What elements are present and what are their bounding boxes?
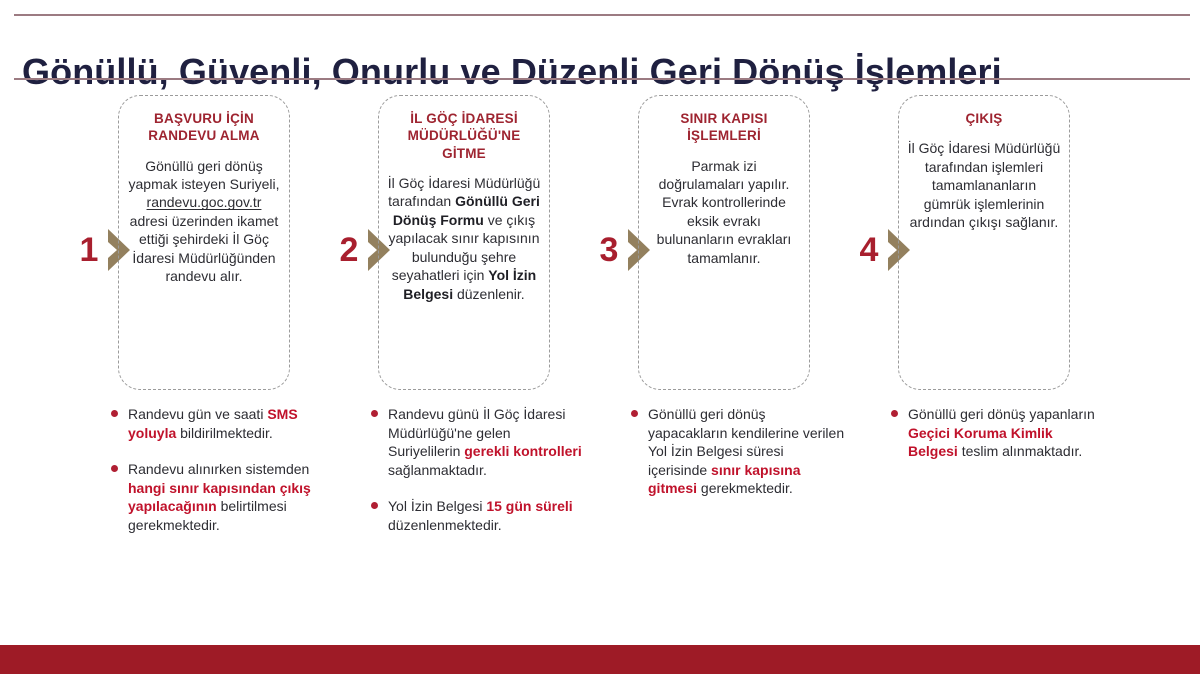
- step-bullets-2: Randevu günü İl Göç İdaresi Müdürlüğü'ne…: [370, 405, 586, 553]
- bullet-dot-icon: [891, 410, 898, 417]
- step-column-2: 2 İL GÖÇ İDARESİ MÜDÜRLÜĞÜ'NE GİTME İl G…: [330, 95, 590, 595]
- step-bullets-3: Gönüllü geri dönüş yapacakların kendiler…: [630, 405, 846, 516]
- step-card-1: BAŞVURU İÇİN RANDEVU ALMA Gönüllü geri d…: [118, 95, 290, 390]
- step-card-2: İL GÖÇ İDARESİ MÜDÜRLÜĞÜ'NE GİTME İl Göç…: [378, 95, 550, 390]
- step-card-4: ÇIKIŞ İl Göç İdaresi Müdürlüğü tarafında…: [898, 95, 1070, 390]
- step-column-3: 3 SINIR KAPISI İŞLEMLERİ Parmak izi doğr…: [590, 95, 850, 595]
- title-rule-top: [14, 14, 1190, 16]
- bullet-text: Gönüllü geri dönüş yapacakların kendiler…: [648, 406, 844, 496]
- step-number-2: 2: [336, 233, 362, 267]
- title-rule-bottom: [14, 78, 1190, 80]
- bullet-dot-icon: [371, 502, 378, 509]
- bullet-text: Randevu günü İl Göç İdaresi Müdürlüğü'ne…: [388, 406, 582, 478]
- bullet-text: Gönüllü geri dönüş yapanların Geçici Kor…: [908, 406, 1095, 459]
- step-column-1: 1 BAŞVURU İÇİN RANDEVU ALMA Gönüllü geri…: [70, 95, 330, 595]
- footer-bar: [0, 645, 1200, 674]
- list-item: Yol İzin Belgesi 15 gün süreli düzenlenm…: [370, 497, 586, 534]
- step-card-3: SINIR KAPISI İŞLEMLERİ Parmak izi doğrul…: [638, 95, 810, 390]
- list-item: Randevu günü İl Göç İdaresi Müdürlüğü'ne…: [370, 405, 586, 479]
- step-column-4: 4 ÇIKIŞ İl Göç İdaresi Müdürlüğü tarafın…: [850, 95, 1110, 595]
- list-item: Gönüllü geri dönüş yapanların Geçici Kor…: [890, 405, 1106, 461]
- bullet-dot-icon: [111, 410, 118, 417]
- list-item: Randevu alınırken sistemden hangi sınır …: [110, 460, 326, 534]
- step-body-1: Gönüllü geri dönüş yapmak isteyen Suriye…: [127, 157, 281, 286]
- step-heading-2: İL GÖÇ İDARESİ MÜDÜRLÜĞÜ'NE GİTME: [387, 110, 541, 162]
- bullet-text: Randevu gün ve saati SMS yoluyla bildiri…: [128, 406, 298, 441]
- infographic-page: Gönüllü, Güvenli, Onurlu ve Düzenli Geri…: [0, 0, 1200, 674]
- step-number-1: 1: [76, 233, 102, 267]
- page-title: Gönüllü, Güvenli, Onurlu ve Düzenli Geri…: [22, 46, 1162, 98]
- bullet-text: Yol İzin Belgesi 15 gün süreli düzenlenm…: [388, 498, 573, 533]
- bullet-dot-icon: [631, 410, 638, 417]
- bullet-dot-icon: [371, 410, 378, 417]
- steps-container: 1 BAŞVURU İÇİN RANDEVU ALMA Gönüllü geri…: [0, 95, 1200, 595]
- step-body-3: Parmak izi doğrulamaları yapılır. Evrak …: [647, 157, 801, 268]
- bullet-text: Randevu alınırken sistemden hangi sınır …: [128, 461, 311, 533]
- bullet-dot-icon: [111, 465, 118, 472]
- step-bullets-1: Randevu gün ve saati SMS yoluyla bildiri…: [110, 405, 326, 553]
- step-heading-3: SINIR KAPISI İŞLEMLERİ: [647, 110, 801, 145]
- step-heading-1: BAŞVURU İÇİN RANDEVU ALMA: [127, 110, 281, 145]
- list-item: Gönüllü geri dönüş yapacakların kendiler…: [630, 405, 846, 498]
- step-body-2: İl Göç İdaresi Müdürlüğü tarafından Gönü…: [387, 174, 541, 303]
- step-heading-4: ÇIKIŞ: [907, 110, 1061, 127]
- step-number-4: 4: [856, 233, 882, 267]
- step-number-3: 3: [596, 233, 622, 267]
- list-item: Randevu gün ve saati SMS yoluyla bildiri…: [110, 405, 326, 442]
- step-bullets-4: Gönüllü geri dönüş yapanların Geçici Kor…: [890, 405, 1106, 479]
- step-body-4: İl Göç İdaresi Müdürlüğü tarafından işle…: [907, 139, 1061, 231]
